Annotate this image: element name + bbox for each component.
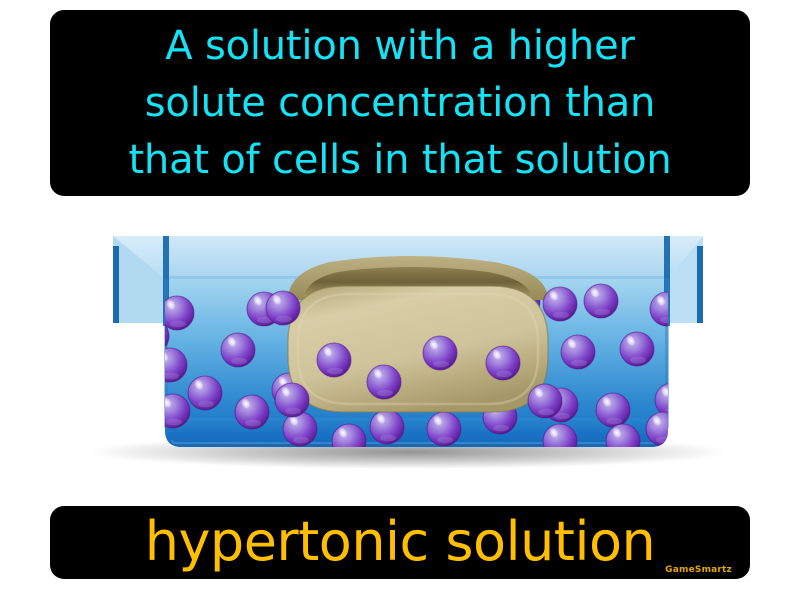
definition-panel: A solution with a higher solute concentr… [50, 10, 750, 196]
definition-text: A solution with a higher solute concentr… [128, 18, 671, 189]
illustration-hypertonic-solution [0, 200, 800, 500]
cell-body [288, 256, 548, 412]
beaker-edge-outer-left [113, 246, 119, 323]
term-panel: hypertonic solution GameSmartz [50, 506, 750, 579]
beaker-diagram-svg [0, 200, 800, 500]
term-title: hypertonic solution [145, 513, 656, 571]
gamesmartz-watermark: GameSmartz [665, 565, 732, 575]
beaker-edge-outer-right [697, 246, 703, 323]
